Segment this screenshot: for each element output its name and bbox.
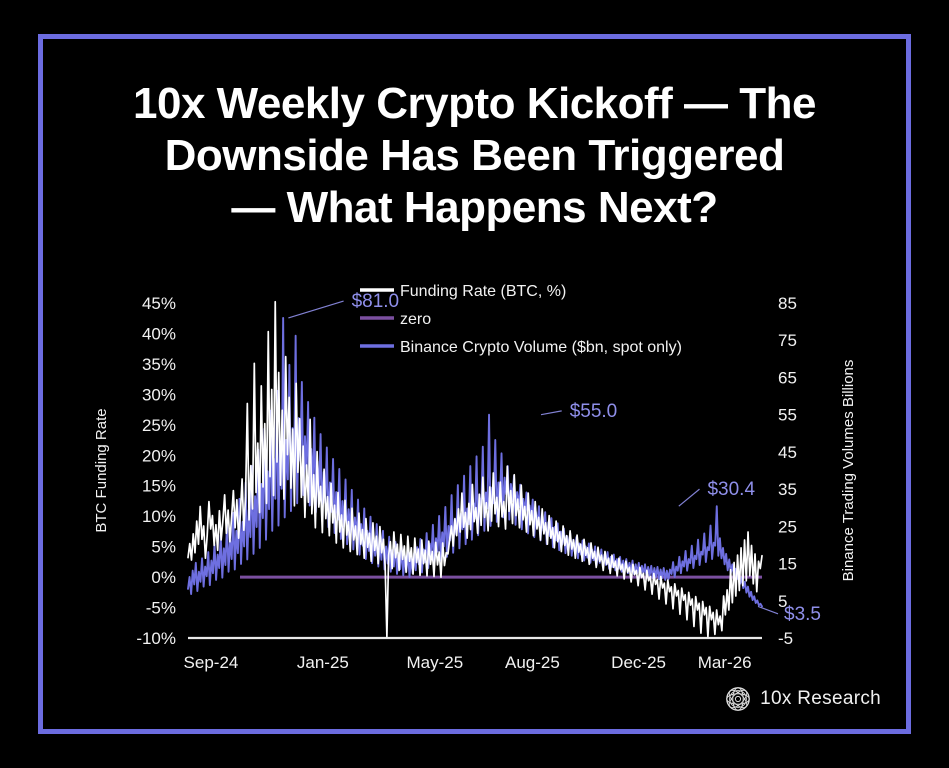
y-tick-right: -5 [778, 629, 793, 648]
y-tick-right: 75 [778, 331, 797, 350]
annotation-0: $81.0 [352, 291, 400, 312]
annotation-leader-0 [288, 301, 343, 318]
y-tick-left: 10% [142, 507, 176, 526]
legend-label-2: Binance Crypto Volume ($bn, spot only) [400, 339, 682, 356]
y-tick-left: 45% [142, 294, 176, 313]
x-tick-5: Mar-26 [698, 653, 752, 672]
y-tick-left: 40% [142, 324, 176, 343]
y-tick-right: 85 [778, 294, 797, 313]
y-tick-left: 5% [151, 538, 176, 557]
annotation-1: $55.0 [570, 401, 618, 422]
title-line-2: Downside Has Been Triggered [60, 130, 889, 182]
y-tick-right: 55 [778, 406, 797, 425]
legend-label-0: Funding Rate (BTC, %) [400, 283, 566, 300]
y-tick-right: 45 [778, 443, 797, 462]
y-tick-left: 0% [151, 568, 176, 587]
y-tick-left: -10% [136, 629, 176, 648]
x-tick-1: Jan-25 [297, 653, 349, 672]
y-tick-left: 20% [142, 446, 176, 465]
title-line-1: 10x Weekly Crypto Kickoff — The [60, 78, 889, 130]
legend-label-1: zero [400, 311, 431, 328]
brand-footer: 10x Research [725, 686, 881, 712]
x-tick-4: Dec-25 [611, 653, 666, 672]
annotation-leader-2 [679, 489, 700, 506]
brand-name: 10x Research [760, 688, 881, 710]
chart-container: 45%40%35%30%25%20%15%10%5%0%-5%-10%85756… [60, 280, 890, 700]
annotation-leader-3 [758, 606, 778, 613]
infographic-card: 10x Weekly Crypto Kickoff — The Downside… [0, 0, 949, 768]
x-tick-3: Aug-25 [505, 653, 560, 672]
title-line-3: — What Happens Next? [60, 182, 889, 234]
y-tick-left: 15% [142, 477, 176, 496]
y-axis-label: BTC Funding Rate [93, 408, 110, 532]
page-title: 10x Weekly Crypto Kickoff — The Downside… [60, 78, 889, 234]
y-tick-right: 15 [778, 555, 797, 574]
y2-axis-label: Binance Trading Volumes Billions [840, 360, 857, 582]
y-tick-left: -5% [146, 599, 176, 618]
y-tick-left: 30% [142, 385, 176, 404]
x-tick-2: May-25 [406, 653, 463, 672]
annotation-leader-1 [541, 411, 562, 415]
y-tick-left: 25% [142, 416, 176, 435]
y-tick-right: 65 [778, 368, 797, 387]
y-tick-right: 25 [778, 517, 797, 536]
y-tick-left: 35% [142, 355, 176, 374]
y-tick-right: 35 [778, 480, 797, 499]
funding-rate-volume-chart: 45%40%35%30%25%20%15%10%5%0%-5%-10%85756… [60, 280, 890, 700]
annotation-2: $30.4 [707, 479, 755, 500]
annotation-3: $3.5 [784, 604, 821, 625]
globe-mesh-icon [725, 686, 751, 712]
x-tick-0: Sep-24 [184, 653, 239, 672]
